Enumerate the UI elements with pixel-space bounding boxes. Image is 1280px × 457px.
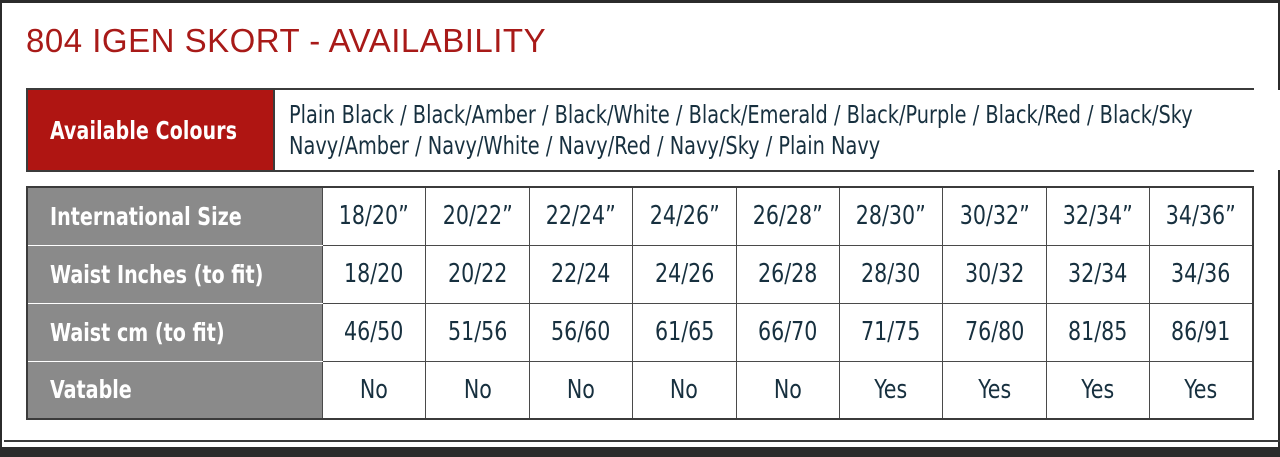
cell-waist-cm-1: 46/50	[323, 303, 426, 361]
cell-text: 51/56	[448, 317, 507, 347]
available-colours-table: Available Colours Plain Black / Black/Am…	[26, 88, 1254, 172]
available-colours-line-1: Plain Black / Black/Amber / Black/White …	[289, 99, 1193, 130]
cell-text: 26/28”	[753, 201, 823, 231]
cell-vatable-1: No	[323, 361, 426, 419]
cell-waist-cm-8: 81/85	[1046, 303, 1149, 361]
cell-international-size-9: 34/36”	[1150, 187, 1254, 245]
cell-waist-inches-6: 28/30	[839, 245, 942, 303]
cell-waist-inches-2: 20/22	[426, 245, 529, 303]
cell-vatable-6: Yes	[839, 361, 942, 419]
table-row: Vatable No No No No No Yes Yes Yes Yes	[27, 361, 1253, 419]
row-label-text: Waist cm (to fit)	[50, 318, 225, 347]
cell-text: 34/36	[1171, 259, 1230, 289]
row-label-waist-inches: Waist Inches (to fit)	[27, 245, 323, 303]
table-row: Waist cm (to fit) 46/50 51/56 56/60 61/6…	[27, 303, 1253, 361]
cell-vatable-2: No	[426, 361, 529, 419]
cell-text: Yes	[1081, 375, 1114, 405]
cell-waist-inches-4: 24/26	[633, 245, 736, 303]
row-label-international-size: International Size	[27, 187, 323, 245]
cell-text: 56/60	[551, 317, 610, 347]
cell-text: 22/24	[551, 259, 610, 289]
cell-text: No	[774, 375, 802, 405]
table-row: Waist Inches (to fit) 18/20 20/22 22/24 …	[27, 245, 1253, 303]
cell-text: 46/50	[345, 317, 404, 347]
cell-waist-inches-7: 30/32	[943, 245, 1046, 303]
cell-text: 86/91	[1171, 317, 1230, 347]
cell-vatable-9: Yes	[1150, 361, 1254, 419]
size-specification-table: International Size 18/20” 20/22” 22/24” …	[26, 186, 1254, 420]
cell-waist-cm-2: 51/56	[426, 303, 529, 361]
cell-text: 22/24”	[546, 201, 616, 231]
cell-international-size-1: 18/20”	[323, 187, 426, 245]
cell-text: 18/20	[345, 259, 404, 289]
cell-vatable-5: No	[736, 361, 839, 419]
cell-international-size-3: 22/24”	[529, 187, 632, 245]
cell-text: 66/70	[758, 317, 817, 347]
cell-text: 32/34	[1068, 259, 1127, 289]
cell-vatable-4: No	[633, 361, 736, 419]
cell-text: 34/36”	[1166, 201, 1236, 231]
cell-text: 26/28	[758, 259, 817, 289]
table-row: International Size 18/20” 20/22” 22/24” …	[27, 187, 1253, 245]
cell-waist-inches-5: 26/28	[736, 245, 839, 303]
cell-waist-cm-3: 56/60	[529, 303, 632, 361]
cell-vatable-3: No	[529, 361, 632, 419]
available-colours-value: Plain Black / Black/Amber / Black/White …	[273, 90, 1280, 170]
cell-international-size-2: 20/22”	[426, 187, 529, 245]
cell-text: 71/75	[861, 317, 920, 347]
cell-vatable-7: Yes	[943, 361, 1046, 419]
size-table-body: International Size 18/20” 20/22” 22/24” …	[27, 187, 1253, 419]
cell-waist-inches-9: 34/36	[1150, 245, 1254, 303]
page-bottom-rule	[2, 447, 1280, 457]
page-footer-hairline	[4, 440, 1280, 442]
cell-text: 20/22”	[443, 201, 513, 231]
cell-international-size-5: 26/28”	[736, 187, 839, 245]
cell-text: 81/85	[1068, 317, 1127, 347]
row-label-text: Waist Inches (to fit)	[50, 260, 263, 289]
available-colours-label-text: Available Colours	[50, 116, 237, 145]
cell-waist-inches-3: 22/24	[529, 245, 632, 303]
cell-text: No	[567, 375, 595, 405]
cell-text: 28/30”	[856, 201, 926, 231]
cell-text: 20/22	[448, 259, 507, 289]
cell-text: No	[670, 375, 698, 405]
row-label-text: Vatable	[50, 375, 132, 404]
row-label-waist-cm: Waist cm (to fit)	[27, 303, 323, 361]
cell-text: 30/32	[965, 259, 1024, 289]
cell-text: 28/30	[861, 259, 920, 289]
cell-waist-cm-4: 61/65	[633, 303, 736, 361]
cell-waist-cm-5: 66/70	[736, 303, 839, 361]
cell-text: No	[464, 375, 492, 405]
cell-text: 24/26”	[649, 201, 719, 231]
page-title: 804 IGEN SKORT - AVAILABILITY	[26, 22, 546, 60]
cell-international-size-7: 30/32”	[943, 187, 1046, 245]
cell-waist-inches-8: 32/34	[1046, 245, 1149, 303]
page-top-rule	[2, 0, 1280, 3]
cell-waist-cm-9: 86/91	[1150, 303, 1254, 361]
cell-text: 61/65	[655, 317, 714, 347]
cell-waist-cm-6: 71/75	[839, 303, 942, 361]
cell-international-size-6: 28/30”	[839, 187, 942, 245]
product-availability-page: 804 IGEN SKORT - AVAILABILITY Available …	[0, 0, 1280, 457]
available-colours-label: Available Colours	[28, 90, 273, 170]
row-label-text: International Size	[50, 202, 242, 231]
cell-text: 32/34”	[1063, 201, 1133, 231]
cell-text: 30/32”	[959, 201, 1029, 231]
cell-vatable-8: Yes	[1046, 361, 1149, 419]
cell-text: 76/80	[965, 317, 1024, 347]
cell-international-size-4: 24/26”	[633, 187, 736, 245]
row-label-vatable: Vatable	[27, 361, 323, 419]
cell-text: 24/26	[655, 259, 714, 289]
cell-text: Yes	[1185, 375, 1218, 405]
cell-waist-inches-1: 18/20	[323, 245, 426, 303]
cell-waist-cm-7: 76/80	[943, 303, 1046, 361]
cell-text: 18/20”	[339, 201, 409, 231]
cell-text: No	[360, 375, 388, 405]
cell-text: Yes	[978, 375, 1011, 405]
cell-text: Yes	[875, 375, 908, 405]
cell-international-size-8: 32/34”	[1046, 187, 1149, 245]
available-colours-line-2: Navy/Amber / Navy/White / Navy/Red / Nav…	[289, 130, 1193, 161]
